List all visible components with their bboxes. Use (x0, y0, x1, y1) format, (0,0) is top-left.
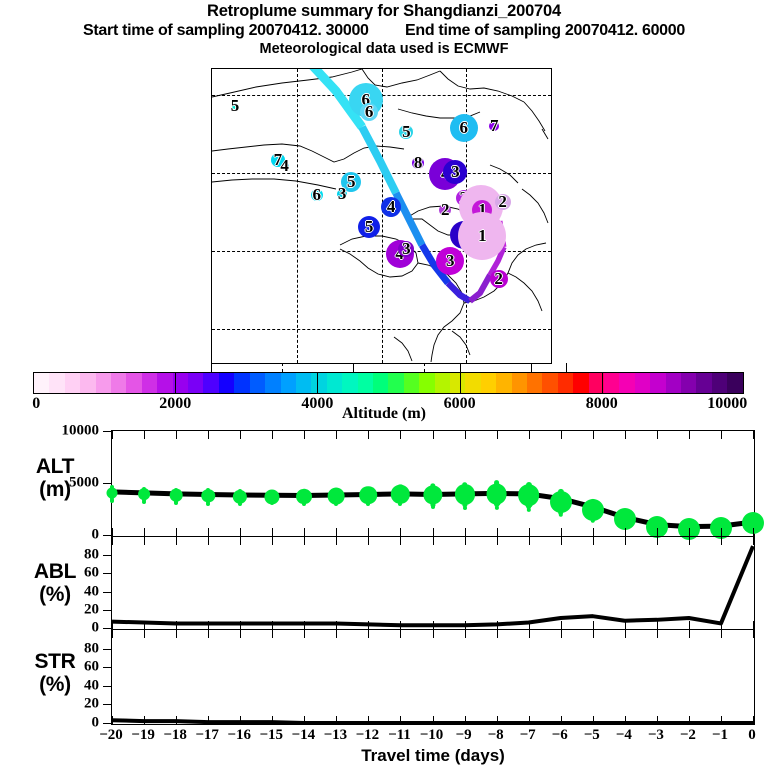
x-tick (625, 528, 626, 536)
colorbar-minor-tick (566, 363, 567, 372)
x-tick (753, 528, 754, 536)
alt-scatter-dot (462, 482, 468, 488)
colorbar-gradient (33, 372, 744, 394)
map-marker-day-label: 6 (460, 118, 469, 138)
colorbar-divider (602, 372, 603, 394)
x-tick (240, 716, 241, 724)
x-tick (657, 621, 658, 629)
alt-scatter-dot (334, 502, 338, 506)
colorbar-minor-tick (531, 363, 532, 372)
alt-scatter-dot (398, 502, 402, 506)
colorbar-swatch (542, 373, 557, 393)
colorbar-swatch (126, 373, 141, 393)
x-tick (753, 716, 754, 724)
x-tick (208, 621, 209, 629)
x-tick (529, 537, 530, 545)
x-tick (721, 630, 722, 638)
x-tick (400, 431, 401, 439)
colorbar-minor-tick (353, 363, 354, 372)
x-tick (272, 621, 273, 629)
colorbar-swatch (727, 373, 742, 393)
x-tick (336, 621, 337, 629)
colorbar-swatch (650, 373, 665, 393)
colorbar-swatch (188, 373, 203, 393)
colorbar-swatch (635, 373, 650, 393)
x-tick (400, 630, 401, 638)
colorbar-swatch (465, 373, 480, 393)
colorbar-swatch (80, 373, 95, 393)
x-tick (593, 716, 594, 724)
alt-scatter-dot (494, 480, 500, 486)
alt-scatter-dot (142, 487, 146, 491)
x-tick (689, 431, 690, 439)
alt-scatter-dot (431, 505, 435, 509)
x-axis-title: Travel time (days) (111, 746, 755, 766)
x-tick (272, 431, 273, 439)
str-row-label-line1: STR (5, 650, 105, 673)
colorbar-swatch (450, 373, 465, 393)
x-tick (625, 630, 626, 638)
alt-scatter-dot (238, 489, 242, 493)
y-tick-label: 20 (84, 696, 99, 713)
x-tick (304, 528, 305, 536)
x-tick (593, 621, 594, 629)
x-tick (368, 431, 369, 439)
colorbar-swatch (111, 373, 126, 393)
colorbar-swatch (311, 373, 326, 393)
x-tick (561, 431, 562, 439)
map-marker-day-label: 3 (446, 251, 455, 271)
alt-scatter-dot (366, 486, 371, 491)
x-tick (529, 630, 530, 638)
colorbar-swatch (296, 373, 311, 393)
x-tick (433, 621, 434, 629)
colorbar-swatch (388, 373, 403, 393)
x-tick (272, 630, 273, 638)
x-tick (240, 528, 241, 536)
x-tick (465, 630, 466, 638)
x-tick-label: −5 (584, 727, 600, 744)
colorbar-swatch (265, 373, 280, 393)
x-tick (465, 716, 466, 724)
x-tick (112, 716, 113, 724)
x-tick (593, 537, 594, 545)
x-tick (625, 537, 626, 545)
x-tick (176, 630, 177, 638)
colorbar-swatch (373, 373, 388, 393)
colorbar-swatch (527, 373, 542, 393)
x-tick-label: −16 (227, 727, 251, 744)
x-tick (112, 537, 113, 545)
x-tick (272, 537, 273, 545)
x-tick (721, 431, 722, 439)
x-tick (208, 630, 209, 638)
colorbar-swatch (234, 373, 249, 393)
x-tick (657, 716, 658, 724)
x-tick-label: −13 (324, 727, 348, 744)
x-tick (240, 431, 241, 439)
alt-row-label: ALT (m) (5, 455, 105, 501)
abl-row-label-line2: (%) (5, 583, 105, 606)
x-tick (465, 431, 466, 439)
map-marker-day-label: 5 (402, 122, 411, 142)
x-tick (176, 528, 177, 536)
x-tick-label: −14 (292, 727, 316, 744)
colorbar-swatch (404, 373, 419, 393)
x-tick (753, 431, 754, 439)
x-tick (529, 716, 530, 724)
x-tick (176, 621, 177, 629)
x-tick (304, 537, 305, 545)
x-tick (368, 528, 369, 536)
x-tick (689, 716, 690, 724)
x-tick (144, 716, 145, 724)
colorbar-swatch (619, 373, 634, 393)
colorbar-divider (175, 372, 176, 394)
x-tick (144, 537, 145, 545)
colorbar-minor-tick (211, 363, 212, 372)
colorbar-swatch (34, 373, 49, 393)
x-tick (368, 537, 369, 545)
x-tick (433, 630, 434, 638)
x-tick (368, 621, 369, 629)
colorbar-swatch (281, 373, 296, 393)
x-tick (657, 537, 658, 545)
x-tick (176, 716, 177, 724)
page-title: Retroplume summary for Shangdianzi_20070… (0, 2, 768, 21)
x-tick (368, 630, 369, 638)
x-tick (144, 621, 145, 629)
colorbar-swatch (358, 373, 373, 393)
x-tick (465, 528, 466, 536)
x-tick (465, 621, 466, 629)
x-tick (753, 621, 754, 629)
x-tick (625, 431, 626, 439)
y-tick-label: 0 (92, 620, 100, 637)
colorbar-swatch (604, 373, 619, 393)
x-tick-label: −20 (99, 727, 123, 744)
x-tick (433, 431, 434, 439)
x-tick (721, 621, 722, 629)
alt-row-label-line2: (m) (5, 478, 105, 501)
str-panel[interactable]: 020406080 (111, 629, 755, 725)
x-tick (689, 537, 690, 545)
x-tick (529, 431, 530, 439)
x-tick-label: −3 (648, 727, 664, 744)
x-tick (112, 630, 113, 638)
x-tick (336, 431, 337, 439)
x-tick (112, 621, 113, 629)
colorbar-swatch (419, 373, 434, 393)
x-tick (561, 716, 562, 724)
x-tick (336, 528, 337, 536)
map-marker-day-label: 2 (494, 269, 503, 289)
alt-panel[interactable]: 0500010000 (111, 430, 755, 537)
map-marker-day-label: 6 (313, 185, 322, 205)
x-tick-label: −12 (356, 727, 380, 744)
alt-scatter-dot (142, 500, 146, 504)
colorbar: 0200040006000800010000 (33, 372, 744, 394)
series-line (112, 546, 753, 625)
alt-scatter-dot (302, 502, 306, 506)
x-tick (497, 528, 498, 536)
x-tick-label: −18 (163, 727, 187, 744)
colorbar-swatch (250, 373, 265, 393)
x-tick (304, 621, 305, 629)
x-tick-label: 0 (748, 727, 756, 744)
x-tick (529, 621, 530, 629)
x-tick (240, 630, 241, 638)
abl-row-label: ABL (%) (5, 560, 105, 606)
alt-scatter-dot (174, 488, 178, 492)
x-tick (561, 630, 562, 638)
alt-scatter-dot (463, 506, 467, 510)
colorbar-swatch (666, 373, 681, 393)
map-marker-day-label: 8 (414, 153, 423, 173)
x-tick (208, 528, 209, 536)
abl-row-label-line1: ABL (5, 560, 105, 583)
x-tick (304, 431, 305, 439)
retroplume-map[interactable]: 566567748563454321122414332 (211, 68, 552, 364)
x-tick (112, 528, 113, 536)
map-marker-day-label: 3 (451, 162, 460, 182)
colorbar-minor-tick (424, 363, 425, 372)
colorbar-swatch (681, 373, 696, 393)
colorbar-swatch (342, 373, 357, 393)
x-tick (240, 621, 241, 629)
title-block: Retroplume summary for Shangdianzi_20070… (0, 2, 768, 58)
str-row-label: STR (%) (5, 650, 105, 696)
map-marker-day-label: 4 (280, 156, 289, 176)
colorbar-swatch (435, 373, 450, 393)
map-marker-day-label: 2 (441, 200, 450, 220)
alt-row-label-line1: ALT (5, 455, 105, 478)
x-tick (336, 537, 337, 545)
colorbar-divider (317, 372, 318, 394)
map-marker-day-label: 7 (490, 116, 499, 136)
map-marker-day-label: 5 (347, 172, 356, 192)
x-tick-label: −17 (195, 727, 219, 744)
y-tick-label: 10000 (62, 423, 100, 440)
x-tick (144, 528, 145, 536)
x-tick-label: −2 (680, 727, 696, 744)
x-tick-label: −1 (712, 727, 728, 744)
x-tick (657, 630, 658, 638)
sampling-time-line: Start time of sampling 20070412. 30000 E… (0, 21, 768, 40)
x-tick (497, 621, 498, 629)
x-tick-label: −19 (131, 727, 155, 744)
alt-scatter-dot (206, 488, 210, 492)
x-tick (593, 630, 594, 638)
x-tick (304, 630, 305, 638)
map-marker-day-label: 4 (387, 197, 396, 217)
x-tick (433, 716, 434, 724)
x-tick (593, 528, 594, 536)
x-tick-label: −4 (616, 727, 632, 744)
alt-scatter-dot (110, 499, 114, 503)
x-tick (272, 716, 273, 724)
x-tick (112, 431, 113, 439)
met-data-label: Meteorological data used is ECMWF (0, 40, 768, 58)
x-tick (529, 528, 530, 536)
x-tick (561, 537, 562, 545)
colorbar-swatch (219, 373, 234, 393)
y-tick-label: 0 (92, 527, 100, 544)
x-tick (593, 431, 594, 439)
x-tick (497, 431, 498, 439)
colorbar-swatch (573, 373, 588, 393)
x-tick (400, 716, 401, 724)
x-tick (208, 537, 209, 545)
x-tick (497, 716, 498, 724)
x-tick (753, 537, 754, 545)
x-tick-label: −11 (388, 727, 411, 744)
alt-scatter-dot (174, 501, 178, 505)
colorbar-swatch (327, 373, 342, 393)
x-tick (721, 716, 722, 724)
x-tick (657, 431, 658, 439)
x-tick (689, 630, 690, 638)
x-tick (657, 528, 658, 536)
map-marker-day-label: 1 (478, 226, 487, 246)
x-tick (433, 528, 434, 536)
x-tick-label: −7 (520, 727, 536, 744)
colorbar-divider (460, 372, 461, 394)
alt-scatter-dot (238, 502, 242, 506)
x-tick (208, 431, 209, 439)
x-tick-label: −15 (259, 727, 283, 744)
x-tick (689, 528, 690, 536)
x-tick (176, 431, 177, 439)
map-marker-day-label: 3 (402, 239, 411, 259)
x-tick (208, 716, 209, 724)
str-row-label-line2: (%) (5, 673, 105, 696)
str-series (112, 630, 753, 723)
y-tick (103, 555, 112, 556)
x-tick (400, 621, 401, 629)
alt-scatter-dot (110, 485, 114, 489)
x-tick (721, 528, 722, 536)
x-tick (368, 716, 369, 724)
x-tick (625, 716, 626, 724)
x-tick (336, 630, 337, 638)
x-tick-label: −9 (456, 727, 472, 744)
x-tick-label: −10 (420, 727, 444, 744)
x-tick (721, 537, 722, 545)
colorbar-title: Altitude (m) (0, 405, 768, 423)
x-tick (400, 528, 401, 536)
x-tick (272, 528, 273, 536)
colorbar-swatch (512, 373, 527, 393)
colorbar-swatch (558, 373, 573, 393)
colorbar-swatch (496, 373, 511, 393)
x-tick-label: −8 (488, 727, 504, 744)
alt-scatter-dot (366, 502, 370, 506)
colorbar-swatch (712, 373, 727, 393)
x-tick (336, 716, 337, 724)
colorbar-swatch (696, 373, 711, 393)
colorbar-swatch (49, 373, 64, 393)
alt-scatter-dot (270, 501, 274, 505)
timeseries-stack: 0500010000 020406080 020406080 −20−19−18… (111, 430, 755, 725)
alt-scatter-dot (206, 502, 210, 506)
end-time-label: End time of sampling 20070412. 60000 (405, 22, 685, 39)
x-tick (497, 537, 498, 545)
x-tick (240, 537, 241, 545)
map-marker-day-label: 3 (338, 184, 347, 204)
x-tick (433, 537, 434, 545)
colorbar-swatch (96, 373, 111, 393)
colorbar-swatch (157, 373, 172, 393)
x-tick (144, 630, 145, 638)
x-tick (400, 537, 401, 545)
abl-panel[interactable]: 020406080 (111, 536, 755, 630)
colorbar-minor-tick (282, 363, 283, 372)
colorbar-swatch (65, 373, 80, 393)
y-tick-label: 0 (92, 715, 100, 732)
y-tick (103, 704, 112, 705)
map-marker-day-label: 6 (365, 102, 374, 122)
x-tick (465, 537, 466, 545)
x-tick (753, 630, 754, 638)
map-marker-day-label: 2 (498, 192, 507, 212)
map-marker-day-label: 5 (365, 217, 374, 237)
x-tick-label: −6 (552, 727, 568, 744)
y-tick (103, 723, 112, 724)
x-tick (304, 716, 305, 724)
x-tick (144, 431, 145, 439)
x-tick (689, 621, 690, 629)
x-tick (561, 621, 562, 629)
y-tick (103, 431, 112, 432)
x-tick (497, 630, 498, 638)
abl-series (112, 537, 753, 628)
colorbar-swatch (481, 373, 496, 393)
x-tick (176, 537, 177, 545)
colorbar-minor-tick (460, 363, 461, 372)
map-marker-day-label: 5 (231, 96, 240, 116)
x-tick (561, 528, 562, 536)
colorbar-swatch (203, 373, 218, 393)
start-time-label: Start time of sampling 20070412. 30000 (83, 22, 369, 39)
y-tick (103, 610, 112, 611)
x-tick (625, 621, 626, 629)
colorbar-swatch (142, 373, 157, 393)
alt-scatter-dot (334, 488, 339, 493)
